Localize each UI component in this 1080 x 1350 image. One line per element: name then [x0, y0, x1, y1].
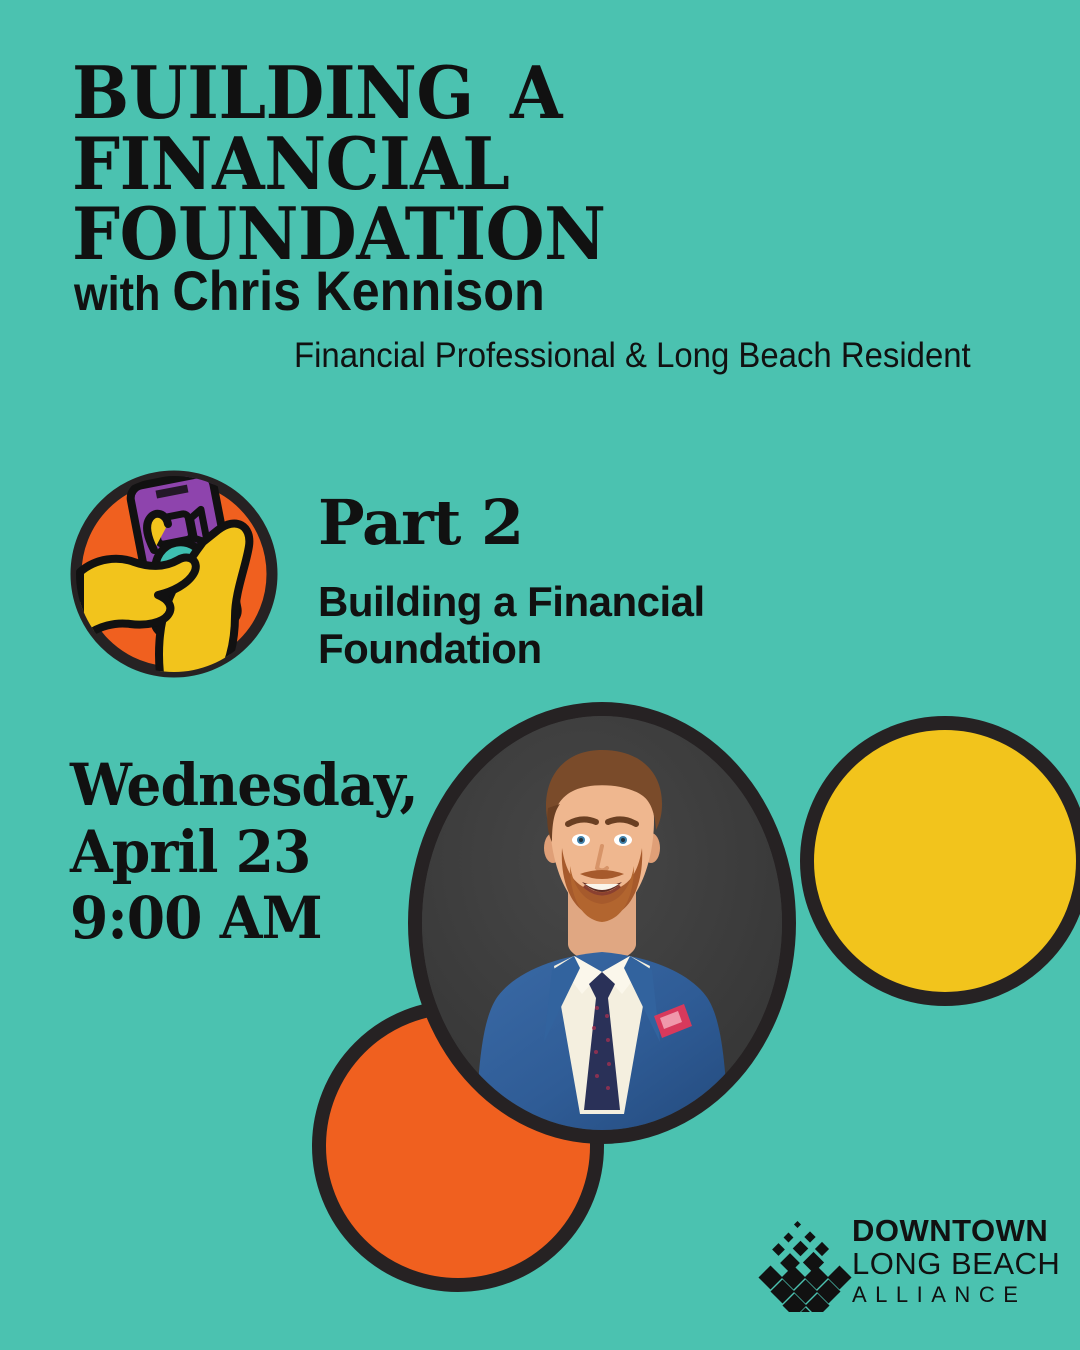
- presenter-line: with Chris Kennison: [74, 262, 545, 321]
- logo-line-long-beach: LONG BEACH: [852, 1247, 1060, 1282]
- logo-line-alliance: ALLIANCE: [852, 1282, 1060, 1308]
- event-flyer: BUILDING A FINANCIAL FOUNDATION with Chr…: [0, 0, 1080, 1350]
- part-title: Part 2: [318, 492, 523, 554]
- dlba-logo-wordmark: DOWNTOWN LONG BEACH ALLIANCE: [852, 1214, 1060, 1309]
- part-subtitle: Building a Financial Foundation: [318, 578, 838, 672]
- hand-tapping-phone-join-icon: JOIN: [68, 468, 280, 680]
- yellow-accent-circle: [800, 716, 1080, 1006]
- presenter-credential: Financial Professional & Long Beach Resi…: [294, 336, 971, 376]
- presenter-photo: [408, 702, 796, 1144]
- page-title: BUILDING A FINANCIAL FOUNDATION: [72, 58, 993, 270]
- presenter-portrait-illustration: [422, 716, 782, 1130]
- logo-line-downtown: DOWNTOWN: [852, 1214, 1060, 1247]
- presenter-with-label: with: [74, 268, 172, 321]
- event-datetime: Wednesday, April 23 9:00 AM: [70, 752, 418, 952]
- presenter-name: Chris Kennison: [172, 259, 544, 322]
